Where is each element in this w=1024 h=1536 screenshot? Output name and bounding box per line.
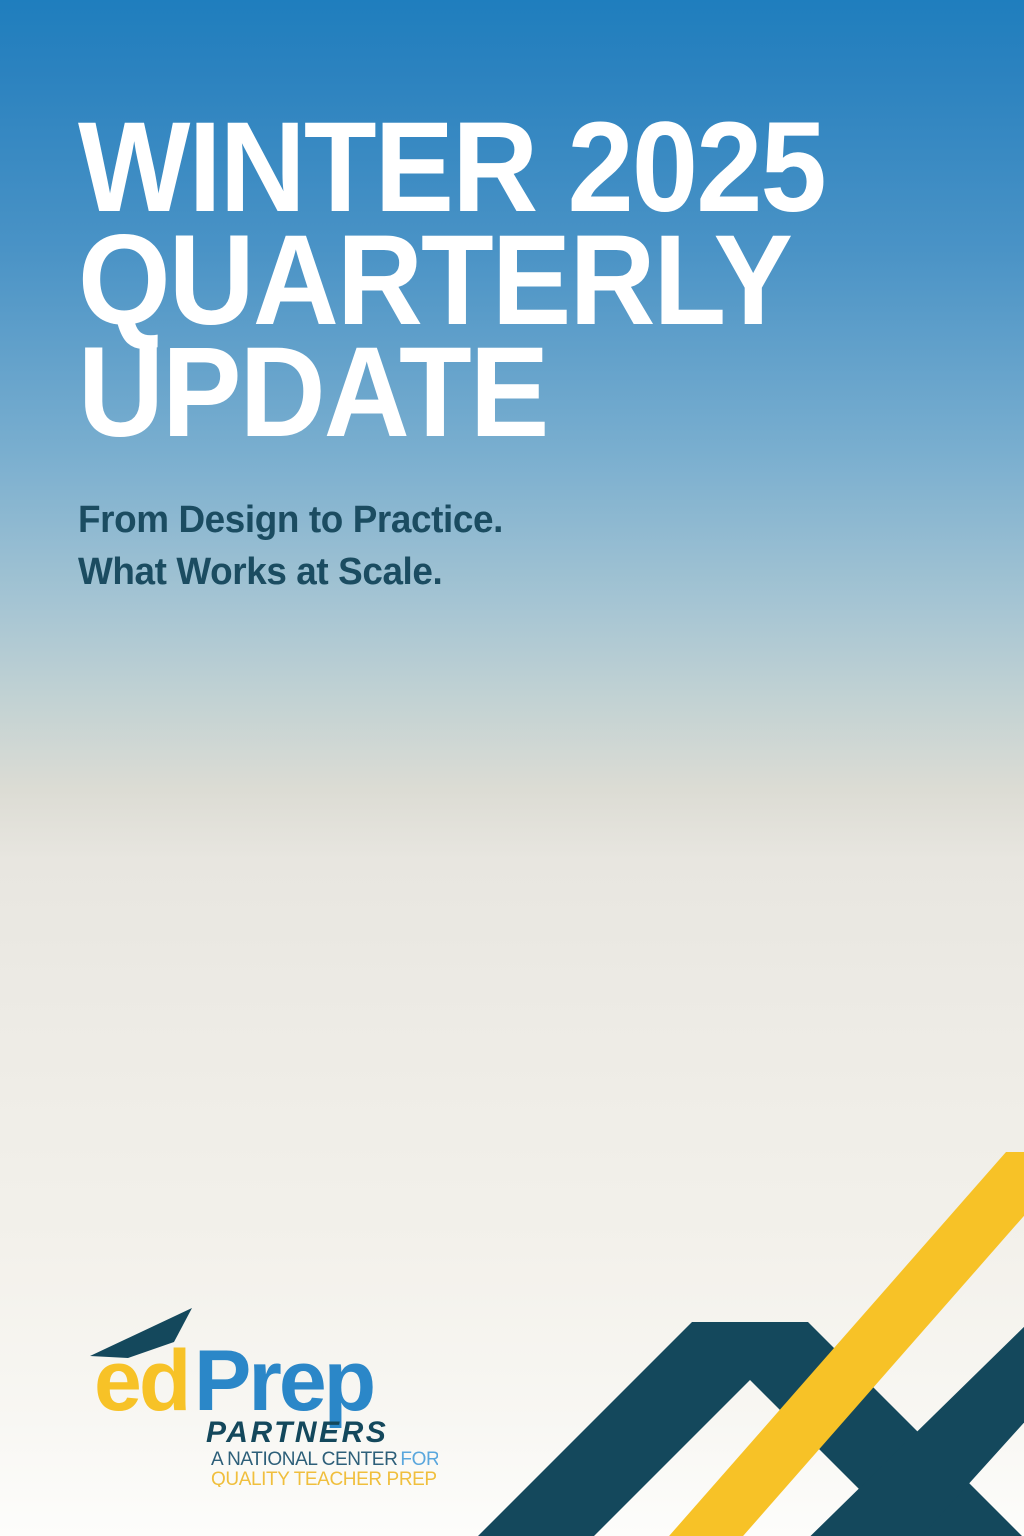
logo-word-ed: ed bbox=[94, 1333, 188, 1429]
edprep-partners-logo: ed Prep PARTNERS A NATIONAL CENTERFOR QU… bbox=[88, 1302, 438, 1487]
tagline-light-part: FOR bbox=[400, 1449, 438, 1470]
logo-tagline-line-2: QUALITY TEACHER PREP bbox=[211, 1469, 437, 1487]
logo-word-prep: Prep bbox=[194, 1333, 373, 1429]
page-title: WINTER 2025 QUARTERLY UPDATE bbox=[78, 112, 878, 450]
navy-diagonal-stripe bbox=[786, 1272, 1024, 1536]
logo-tagline-line-1: A NATIONAL CENTERFOR bbox=[211, 1449, 438, 1470]
logo-svg: ed Prep PARTNERS A NATIONAL CENTERFOR QU… bbox=[88, 1302, 438, 1487]
report-cover-page: WINTER 2025 QUARTERLY UPDATE From Design… bbox=[0, 0, 1024, 1536]
page-subtitle: From Design to Practice. What Works at S… bbox=[78, 495, 503, 598]
logo-word-partners: PARTNERS bbox=[206, 1416, 388, 1449]
navy-chevron-shape bbox=[440, 1322, 1024, 1536]
yellow-diagonal-stripe bbox=[648, 1152, 1024, 1536]
tagline-dark-part: A NATIONAL CENTER bbox=[211, 1449, 397, 1470]
headline-block: WINTER 2025 QUARTERLY UPDATE bbox=[78, 112, 938, 450]
